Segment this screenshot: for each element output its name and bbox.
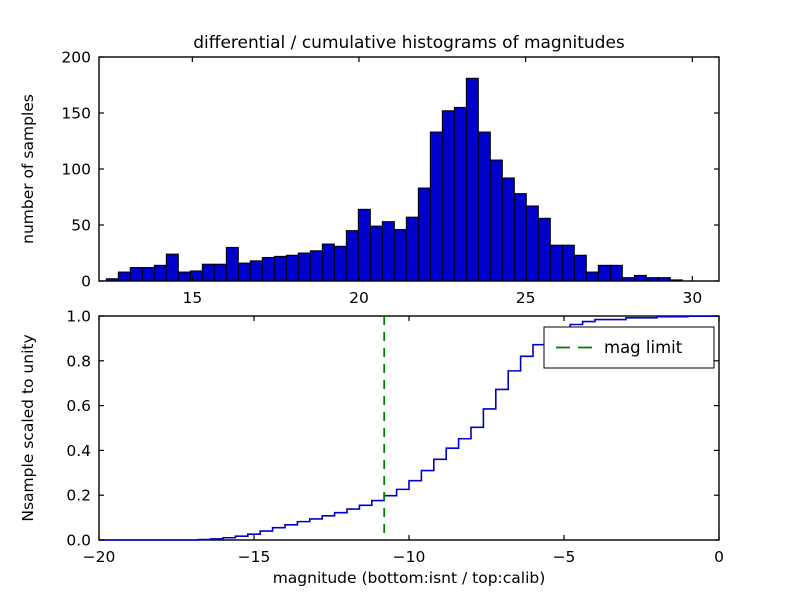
histogram-bar [514, 194, 526, 281]
histogram-bar [106, 279, 118, 281]
histogram-bar [142, 268, 154, 281]
y-tick-label: 0.4 [66, 442, 91, 460]
top-y-axis-label: number of samples [19, 94, 37, 244]
y-tick-label: 100 [61, 161, 91, 179]
histogram-bar [226, 247, 238, 281]
histogram-bar [526, 206, 538, 281]
x-tick-label: 15 [182, 289, 202, 307]
histogram-bar [274, 256, 286, 281]
y-tick-label: 0.0 [66, 532, 91, 550]
bottom-y-axis-label: Nsample scaled to unity [19, 334, 37, 521]
histogram-bar [502, 178, 514, 281]
histogram-bar [238, 263, 250, 281]
histogram-bar [634, 275, 646, 281]
y-tick-label: 0.2 [66, 487, 91, 505]
histogram-bar [370, 226, 382, 281]
histogram-bar [154, 265, 166, 281]
histogram-bar [286, 255, 298, 281]
histogram-bar [130, 268, 142, 281]
histogram-bar [358, 209, 370, 281]
matplotlib-figure: 05010015020015202530 differential / cumu… [0, 0, 800, 600]
histogram-bar [250, 261, 262, 281]
y-tick-label: 50 [71, 217, 91, 235]
histogram-bar [574, 255, 586, 281]
x-axis-label: magnitude (bottom:isnt / top:calib) [273, 569, 546, 587]
x-tick-label: 0 [714, 548, 724, 566]
histogram-bar [550, 245, 562, 281]
histogram-bar [646, 278, 658, 281]
y-tick-label: 0.6 [66, 397, 91, 415]
histogram-bar [454, 107, 466, 281]
histogram-bar [298, 253, 310, 281]
y-tick-label: 0.8 [66, 352, 91, 370]
x-tick-label: −5 [553, 548, 576, 566]
histogram-bar [610, 265, 622, 281]
histogram-bar [202, 264, 214, 281]
x-tick-label: 20 [349, 289, 369, 307]
histogram-bar [262, 257, 274, 281]
x-tick-label: −10 [393, 548, 426, 566]
histogram-bar [406, 217, 418, 281]
histogram-bar [382, 222, 394, 281]
histogram-bar [394, 229, 406, 281]
histogram-bar [346, 231, 358, 281]
histogram-bar [658, 278, 670, 281]
legend-label-mag-limit: mag limit [604, 338, 683, 357]
histogram-bar [562, 245, 574, 281]
histogram-bar [430, 132, 442, 281]
histogram-bar [166, 254, 178, 281]
histogram-bar [118, 272, 130, 281]
histogram-bar [418, 188, 430, 281]
histogram-bar [586, 272, 598, 281]
x-tick-label: 25 [516, 289, 536, 307]
histogram-bar [490, 160, 502, 281]
y-tick-label: 1.0 [66, 308, 91, 326]
histogram-bar [334, 246, 346, 281]
x-tick-label: 30 [682, 289, 702, 307]
legend[interactable]: mag limit [544, 327, 714, 368]
histogram-bar [322, 244, 334, 281]
x-tick-label: −15 [238, 548, 271, 566]
y-tick-label: 200 [61, 49, 91, 67]
histogram-bar [622, 278, 634, 281]
histogram-bar [442, 111, 454, 281]
figure-canvas: 05010015020015202530 differential / cumu… [0, 0, 800, 600]
y-tick-label: 150 [61, 105, 91, 123]
y-tick-label: 0 [81, 273, 91, 291]
histogram-bar [178, 272, 190, 281]
chart-title: differential / cumulative histograms of … [193, 33, 625, 53]
histogram-bar [466, 78, 478, 281]
top-panel: 05010015020015202530 [61, 49, 719, 308]
histogram-bar [538, 218, 550, 281]
histogram-bar [478, 132, 490, 281]
histogram-bar [598, 265, 610, 281]
histogram-bar [670, 280, 682, 281]
x-tick-label: −20 [83, 548, 116, 566]
histogram-bars [106, 78, 682, 281]
histogram-bar [214, 264, 226, 281]
histogram-bar [310, 251, 322, 281]
